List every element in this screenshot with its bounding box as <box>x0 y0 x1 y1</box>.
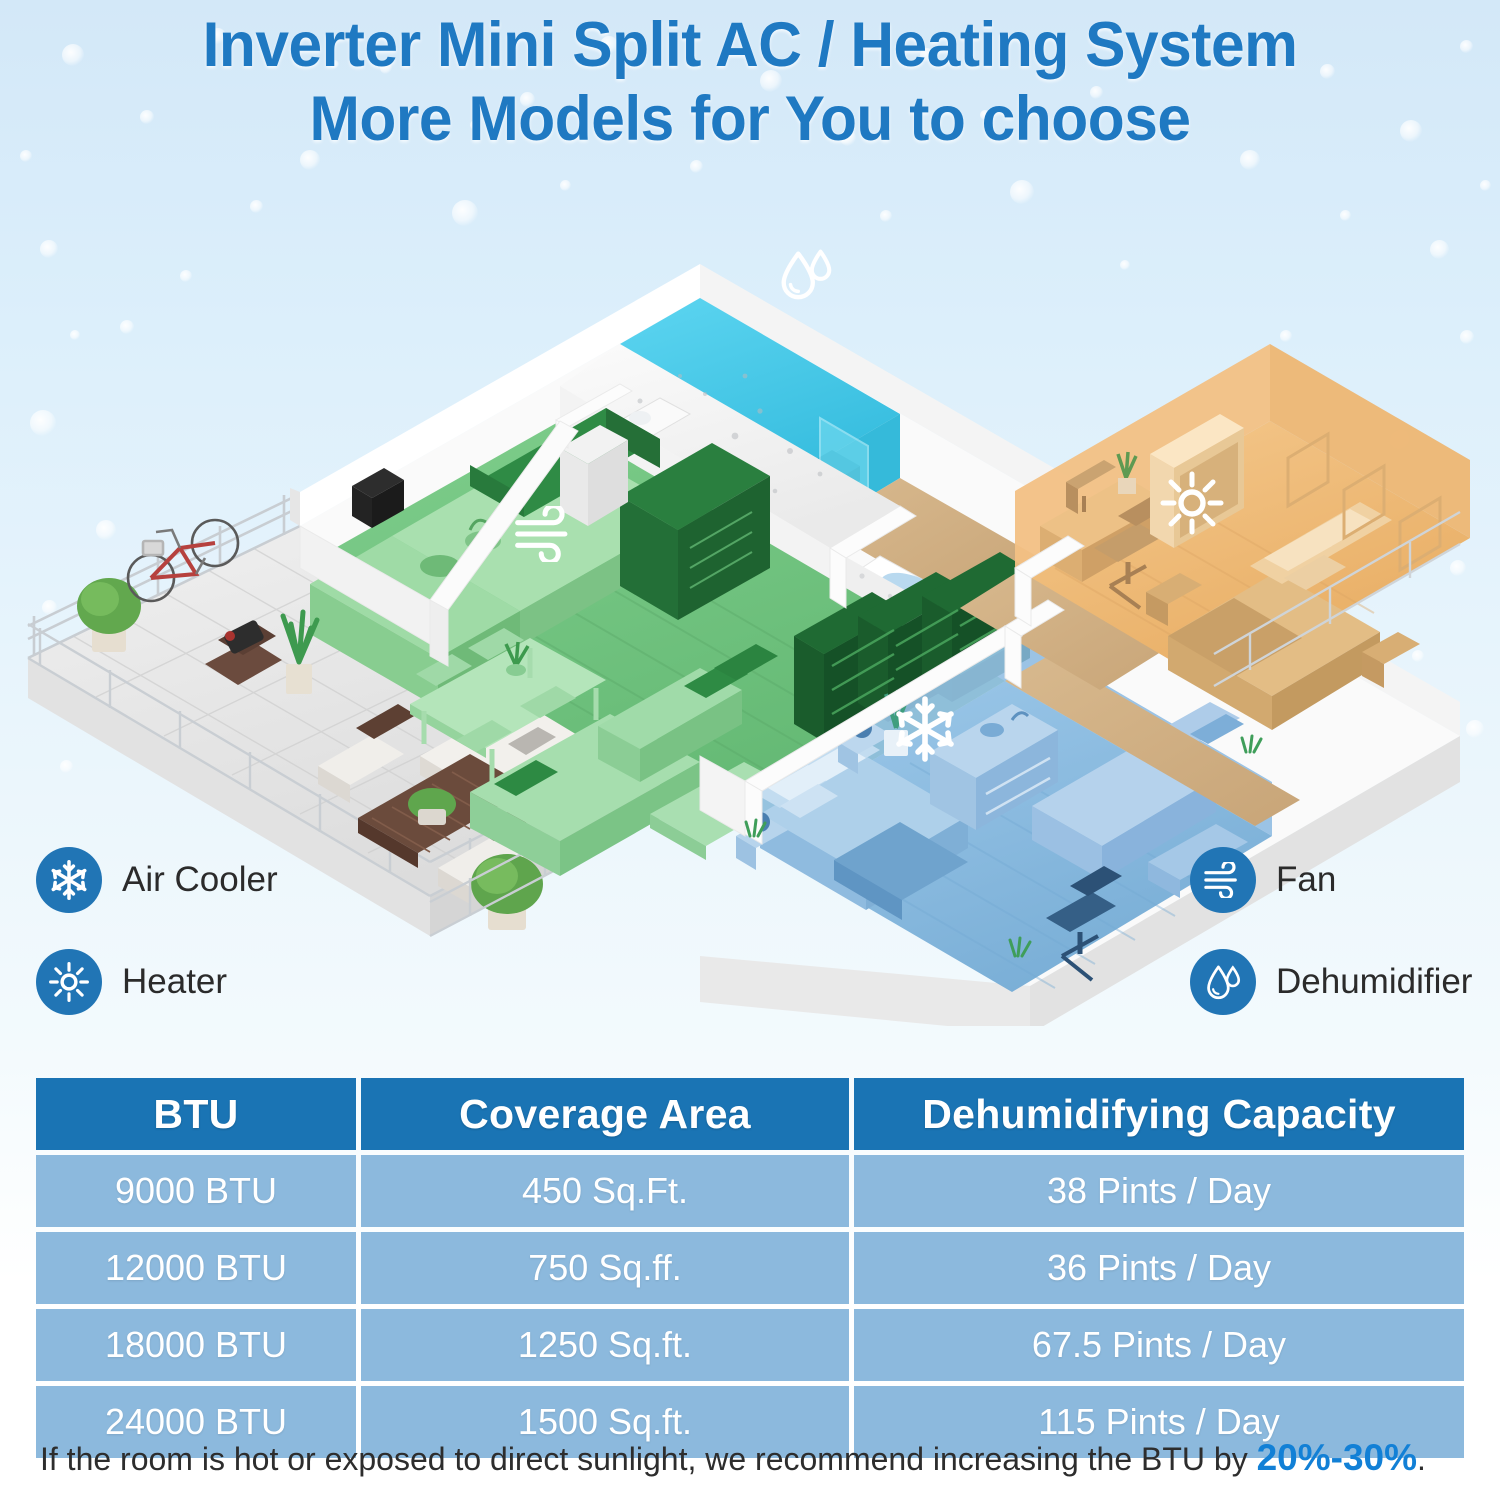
cell-coverage: 1250 Sq.ft. <box>361 1309 849 1381</box>
title-line-2: More Models for You to choose <box>30 82 1470 156</box>
column-header-dehumidifying: Dehumidifying Capacity <box>854 1078 1464 1150</box>
column-header-coverage: Coverage Area <box>361 1078 849 1150</box>
cell-dehumidifying: 38 Pints / Day <box>854 1155 1464 1227</box>
spec-table: BTU Coverage Area Dehumidifying Capacity… <box>36 1078 1464 1458</box>
footnote-text: If the room is hot or exposed to direct … <box>40 1441 1257 1477</box>
terrace-shrub-2 <box>471 854 543 930</box>
cell-dehumidifying: 36 Pints / Day <box>854 1232 1464 1304</box>
cell-btu: 12000 BTU <box>36 1232 356 1304</box>
legend-left: Air Cooler Heater <box>36 846 278 1050</box>
cell-dehumidifying: 67.5 Pints / Day <box>854 1309 1464 1381</box>
legend-label-air-cooler: Air Cooler <box>122 860 278 900</box>
legend-item-fan: Fan <box>1190 846 1472 914</box>
legend-right: Fan Dehumidifier <box>1190 846 1472 1050</box>
table-row: 18000 BTU 1250 Sq.ft. 67.5 Pints / Day <box>36 1309 1464 1381</box>
footnote-tail: . <box>1417 1441 1426 1477</box>
sun-icon <box>36 949 102 1015</box>
cell-btu: 9000 BTU <box>36 1155 356 1227</box>
legend-item-heater: Heater <box>36 948 278 1016</box>
footnote: If the room is hot or exposed to direct … <box>40 1437 1470 1479</box>
table-header-row: BTU Coverage Area Dehumidifying Capacity <box>36 1078 1464 1150</box>
legend-label-dehumidifier: Dehumidifier <box>1276 962 1472 1002</box>
snowflake-icon <box>36 847 102 913</box>
water-drop-icon <box>1190 949 1256 1015</box>
table-row: 9000 BTU 450 Sq.Ft. 38 Pints / Day <box>36 1155 1464 1227</box>
wind-icon <box>1190 847 1256 913</box>
column-header-btu: BTU <box>36 1078 356 1150</box>
cell-coverage: 750 Sq.ff. <box>361 1232 849 1304</box>
cell-coverage: 450 Sq.Ft. <box>361 1155 849 1227</box>
footnote-highlight: 20%-30% <box>1257 1437 1417 1478</box>
infographic-page: Inverter Mini Split AC / Heating System … <box>0 0 1500 1490</box>
legend-item-air-cooler: Air Cooler <box>36 846 278 914</box>
legend-item-dehumidifier: Dehumidifier <box>1190 948 1472 1016</box>
cell-btu: 18000 BTU <box>36 1309 356 1381</box>
table-row: 12000 BTU 750 Sq.ff. 36 Pints / Day <box>36 1232 1464 1304</box>
title-line-1: Inverter Mini Split AC / Heating System <box>30 8 1470 82</box>
legend-label-heater: Heater <box>122 962 227 1002</box>
page-title: Inverter Mini Split AC / Heating System … <box>0 8 1500 156</box>
legend-label-fan: Fan <box>1276 860 1336 900</box>
